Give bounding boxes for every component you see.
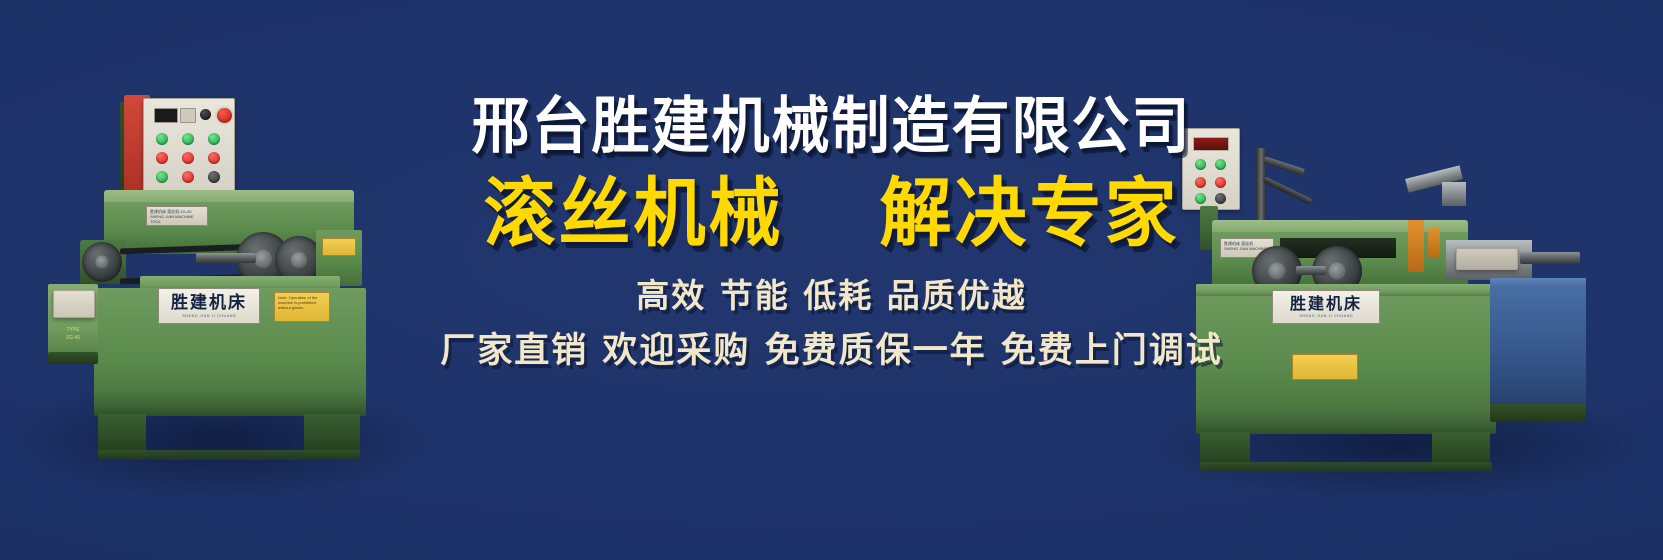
- right-panel-button-g1: [1195, 159, 1206, 170]
- promo-banner: 胜建机床 滚丝机 ZG-40SHENG JIAN MACHINE TOOL 胜建…: [0, 0, 1663, 560]
- headline-row: 滚丝机械解决专家: [0, 173, 1663, 254]
- right-coolant-tank-base: [1490, 404, 1586, 422]
- left-machine-floor-line: [98, 450, 360, 460]
- tagline-primary: 高效 节能 低耗 品质优越: [0, 277, 1663, 315]
- right-nameplate-en: SHENG JIAN JI CHUANG: [1299, 314, 1353, 318]
- company-title: 邢台胜建机械制造有限公司: [0, 94, 1663, 159]
- tagline-secondary: 厂家直销 欢迎采购 免费质保一年 免费上门调试: [0, 331, 1663, 371]
- right-machine-base-lower: [1196, 406, 1496, 434]
- headline-right: 解决专家: [880, 169, 1180, 256]
- headline-left: 滚丝机械: [483, 169, 783, 256]
- right-machine-floor-line: [1200, 462, 1492, 472]
- left-machine-base-lower: [94, 390, 366, 416]
- left-work-shaft: [196, 253, 256, 263]
- banner-text-block: 邢台胜建机械制造有限公司 滚丝机械解决专家 高效 节能 低耗 品质优越 厂家直销…: [0, 96, 1663, 371]
- right-work-shaft: [1296, 266, 1326, 275]
- right-panel-button-g2: [1215, 159, 1226, 170]
